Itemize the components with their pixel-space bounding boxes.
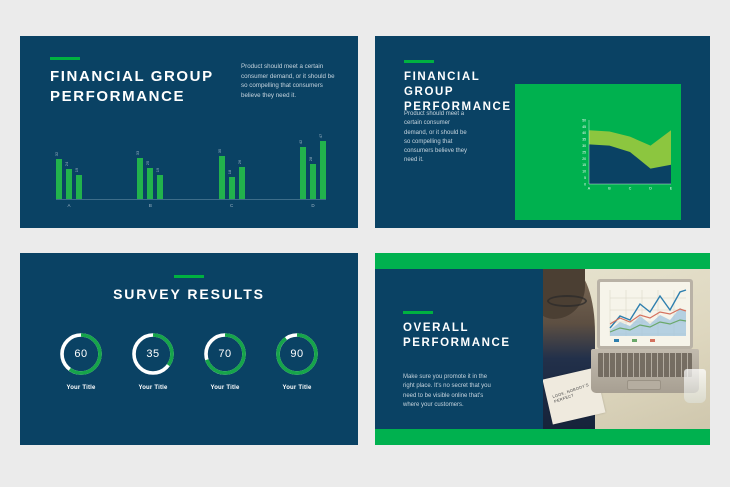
bar-value-label: 42 (298, 140, 303, 144)
donut-value: 90 (274, 331, 320, 377)
laptop-screen (600, 282, 690, 346)
slide1-header: FINANCIAL GROUP PERFORMANCE (50, 57, 214, 106)
area-y-tick-label: 50 (582, 118, 586, 122)
bar[interactable]: 19 (157, 175, 163, 199)
slide4-text-pane: OVERALL PERFORMANCE Make sure you promot… (375, 269, 543, 429)
slide3-title: SURVEY RESULTS (20, 285, 358, 303)
bar-chart-axis-line (56, 199, 326, 200)
bar-category-label: A (56, 203, 82, 208)
area-y-tick-label: 0 (584, 182, 586, 186)
bar[interactable]: 26 (239, 167, 245, 199)
bar-value-label: 32 (54, 152, 59, 156)
bar[interactable]: 42 (300, 147, 306, 199)
donut-cell[interactable]: 90Your Title (272, 331, 322, 391)
slide1-title: FINANCIAL GROUP PERFORMANCE (50, 67, 214, 106)
slide4-header: OVERALL PERFORMANCE (403, 311, 511, 351)
laptop-trackpad (627, 380, 661, 390)
area-chart-panel[interactable]: 05101520253035404550ABCDE (515, 84, 681, 220)
area-x-tick-label: A (588, 187, 591, 191)
bar-value-label: 28 (308, 157, 313, 161)
donut-value: 60 (58, 331, 104, 377)
laptop-base (591, 349, 699, 393)
donut-value: 35 (130, 331, 176, 377)
donut-chart[interactable]: 70 (202, 331, 248, 377)
bar[interactable]: 32 (56, 159, 62, 199)
bar-value-label: 19 (155, 168, 160, 172)
area-y-tick-label: 25 (582, 150, 586, 154)
slide3-header: SURVEY RESULTS (20, 275, 358, 303)
bar-value-label: 33 (135, 151, 140, 155)
laptop-photo: LOOK, NOBODY'S PERFECT (543, 269, 710, 429)
slide2-title: FINANCIAL GROUP PERFORMANCE (404, 70, 512, 115)
bar[interactable]: 35 (219, 156, 225, 199)
bar-value-label: 24 (64, 162, 69, 166)
bar[interactable]: 28 (310, 164, 316, 199)
bar-category-label: C (219, 203, 245, 208)
bar-chart-groups: 322419A332519B351826C422847D (56, 134, 326, 199)
donut-cell[interactable]: 60Your Title (56, 331, 106, 391)
bar-group[interactable]: 332519B (137, 134, 163, 199)
area-y-tick-label: 35 (582, 138, 586, 142)
slide4-title-line1: OVERALL (403, 321, 511, 336)
area-chart-svg: 05101520253035404550ABCDE (573, 116, 673, 194)
bar[interactable]: 19 (76, 175, 82, 199)
slide4-body-text: Make sure you promote it in the right pl… (403, 373, 499, 410)
slide2-header: FINANCIAL GROUP PERFORMANCE (404, 60, 512, 115)
donut-cell[interactable]: 35Your Title (128, 331, 178, 391)
laptop-keyboard (598, 353, 692, 377)
donut-value: 70 (202, 331, 248, 377)
glasses-icon (547, 295, 587, 307)
slide-financial-group-performance-area[interactable]: FINANCIAL GROUP PERFORMANCE Product shou… (375, 36, 710, 228)
slide2-title-line2: GROUP (404, 85, 512, 100)
bar-category-label: B (137, 203, 163, 208)
bar[interactable]: 18 (229, 177, 235, 199)
bar[interactable]: 33 (137, 158, 143, 199)
slide-financial-group-performance-bar[interactable]: FINANCIAL GROUP PERFORMANCE Product shou… (20, 36, 358, 228)
slide-board: FINANCIAL GROUP PERFORMANCE Product shou… (0, 0, 730, 487)
bar-value-label: 35 (217, 148, 222, 152)
person-hair (543, 269, 585, 319)
slide4-title-line2: PERFORMANCE (403, 336, 511, 351)
donut-chart-row: 60Your Title35Your Title70Your Title90Yo… (20, 331, 358, 391)
slide-overall-performance[interactable]: OVERALL PERFORMANCE Make sure you promot… (375, 253, 710, 445)
bar-category-label: D (300, 203, 326, 208)
area-chart[interactable]: 05101520253035404550ABCDE (573, 116, 673, 194)
bar-value-label: 19 (74, 168, 79, 172)
bar-value-label: 18 (227, 169, 232, 173)
area-x-tick-label: C (629, 187, 632, 191)
bar-value-label: 26 (237, 160, 242, 164)
area-y-tick-label: 20 (582, 157, 586, 161)
area-y-tick-label: 15 (582, 163, 586, 167)
bar[interactable]: 24 (66, 169, 72, 199)
donut-label: Your Title (200, 385, 250, 391)
slide2-body-text: Product should meet a certain consumer d… (404, 110, 474, 166)
bar[interactable]: 47 (320, 141, 326, 199)
area-y-tick-label: 10 (582, 170, 586, 174)
accent-bar-icon (174, 275, 204, 278)
accent-bar-icon (50, 57, 80, 60)
bar-group[interactable]: 422847D (300, 134, 326, 199)
bar[interactable]: 25 (147, 168, 153, 199)
slide1-title-line2: PERFORMANCE (50, 87, 214, 107)
screen-line-chart-icon (600, 282, 690, 346)
bar-group[interactable]: 322419A (56, 134, 82, 199)
laptop-lid (597, 279, 693, 349)
area-y-tick-label: 30 (582, 144, 586, 148)
laptop (591, 279, 699, 425)
slide-survey-results[interactable]: SURVEY RESULTS 60Your Title35Your Title7… (20, 253, 358, 445)
area-x-tick-label: D (649, 187, 652, 191)
area-y-tick-label: 5 (584, 176, 586, 180)
bar-value-label: 25 (145, 161, 150, 165)
slide1-body-text: Product should meet a certain consumer d… (241, 62, 341, 100)
donut-label: Your Title (272, 385, 322, 391)
slide1-title-line1: FINANCIAL GROUP (50, 67, 214, 87)
area-x-tick-label: E (670, 187, 673, 191)
donut-cell[interactable]: 70Your Title (200, 331, 250, 391)
donut-chart[interactable]: 35 (130, 331, 176, 377)
bar-value-label: 47 (318, 134, 323, 138)
donut-chart[interactable]: 90 (274, 331, 320, 377)
area-y-tick-label: 40 (582, 131, 586, 135)
donut-label: Your Title (128, 385, 178, 391)
donut-label: Your Title (56, 385, 106, 391)
accent-bar-icon (404, 60, 434, 63)
area-y-tick-label: 45 (582, 125, 586, 129)
accent-bar-icon (403, 311, 433, 314)
slide4-title: OVERALL PERFORMANCE (403, 321, 511, 351)
area-x-tick-label: B (608, 187, 611, 191)
bar-group[interactable]: 351826C (219, 134, 245, 199)
water-glass (684, 369, 706, 403)
bar-chart[interactable]: 322419A332519B351826C422847D (56, 134, 326, 212)
donut-chart[interactable]: 60 (58, 331, 104, 377)
slide2-title-line1: FINANCIAL (404, 70, 512, 85)
slide4-inner: OVERALL PERFORMANCE Make sure you promot… (375, 269, 710, 429)
